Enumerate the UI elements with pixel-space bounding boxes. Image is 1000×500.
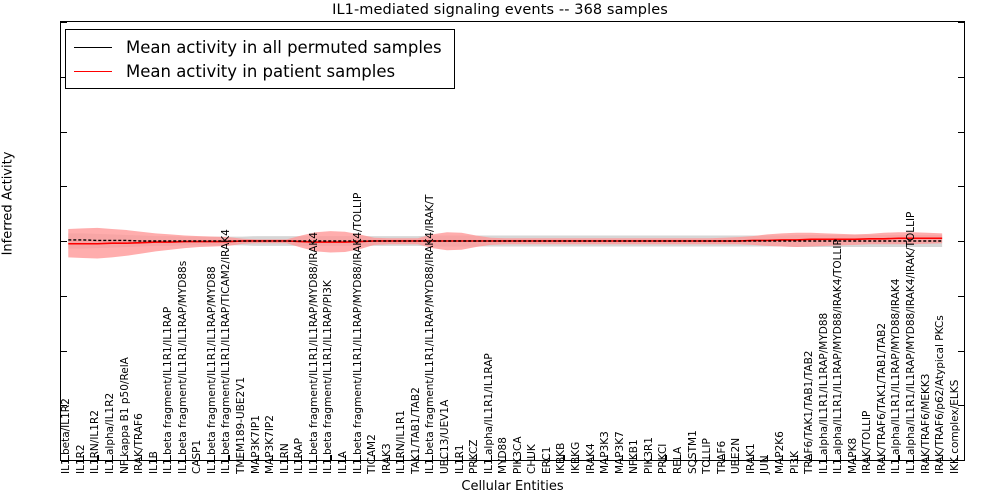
x-tick-label: JUN [760,455,770,474]
x-tick-label: MAP3K7 [615,431,625,474]
chart-title: IL1-mediated signaling events -- 368 sam… [0,2,1000,18]
x-tick-label: MAP3K7IP2 [265,415,275,474]
x-tick-label: TICAM2 [367,434,377,474]
x-tick-label: IL1 beta fragment/IL1R1/IL1RAP/MYD88/IRA… [353,193,363,474]
x-tick-label: NFKB1 [629,439,639,474]
y-axis-label: Inferred Activity [1,0,16,424]
x-tick-label: PRKCZ [469,440,479,474]
chart-root: IL1-mediated signaling events -- 368 sam… [0,0,1000,500]
legend: Mean activity in all permuted samples Me… [65,29,455,89]
x-tick-label: IKK complex/ELKS [950,380,960,474]
y-tick-mark [958,351,964,352]
x-tick-label: MAP2K6 [775,431,785,474]
legend-label-patient: Mean activity in patient samples [126,62,395,81]
y-tick-mark [61,22,67,23]
y-tick-mark [958,132,964,133]
x-tick-label: IL1R1 [455,444,465,474]
x-tick-label: MAP3K7IP1 [251,415,261,474]
x-tick-label: RELA [673,447,683,474]
x-tick-label: IL1RN [280,443,290,474]
x-tick-label: IL1 alpha/IL1R1/IL1RAP/MYD88/IRAK4/TOLLI… [833,239,843,474]
x-tick-label: IRAK1 [746,443,756,474]
x-tick-label: TOLLIP [702,438,712,474]
x-tick-label: IL1 beta fragment/IL1R1/IL1RAP/TICAM2/IR… [221,229,231,474]
x-tick-label: NF kappa B1 p50/RelA [120,357,130,474]
x-tick-label: MAPK8 [848,438,858,474]
patient-confidence-band [68,228,942,259]
x-tick-label: IRAK/TRAF6/MEKK3 [921,374,931,474]
x-tick-label: IL1RAP [294,438,304,474]
x-tick-label: IL1A [338,451,348,474]
x-tick-label: IL1 alpha/IL1R1/IL1RAP/MYD88/IRAK4 [891,279,901,474]
x-tick-label: UBE2N [731,438,741,474]
x-tick-label: IL1 beta/IL1R2 [61,398,71,474]
legend-label-permuted: Mean activity in all permuted samples [126,38,442,57]
x-tick-label: IKBKG [571,442,581,474]
legend-swatch-patient [74,71,112,72]
x-tick-label: IL1 beta fragment/IL1R1/IL1RAP/MYD88s [178,261,188,474]
legend-item-permuted: Mean activity in all permuted samples [74,35,442,59]
y-tick-mark [61,296,67,297]
x-tick-label: IL1 alpha/IL1R1/IL1RAP/MYD88/IRAK4/IRAK/… [906,212,916,474]
x-tick-label: TAK1/TAB1/TAB2 [411,387,421,474]
x-tick-label: IL1RN/IL1R1 [396,410,406,474]
x-tick-label: TRAF6 [717,441,727,474]
x-tick-label: IKBKB [556,443,566,474]
x-tick-label: PIK3R1 [644,437,654,474]
x-tick-label: IL1 alpha/IL1R1/IL1RAP/MYD88 [819,313,829,474]
y-tick-mark [958,22,964,23]
x-tick-label: IRAK/TRAF6/p62/Atypical PKCs [935,315,945,474]
y-tick-mark [61,351,67,352]
x-tick-label: IL1 beta fragment/IL1R1/IL1RAP [163,307,173,474]
x-tick-label: TMEM189-UBE2V1 [236,377,246,474]
y-tick-mark [958,296,964,297]
legend-item-patient: Mean activity in patient samples [74,59,442,83]
x-tick-label: IRAK/TRAF6/TAK1/TAB1/TAB2 [877,323,887,474]
x-tick-label: IRAK3 [382,443,392,474]
x-tick-label: IL1 beta fragment/IL1R1/IL1RAP/PI3K [323,280,333,474]
x-tick-label: CHUK [527,444,537,474]
y-tick-mark [61,186,67,187]
x-tick-label: IL1 beta fragment/IL1R1/IL1RAP/MYD88/IRA… [309,232,319,474]
x-tick-label: IL1 beta fragment/IL1R1/IL1RAP/MYD88 [207,266,217,474]
x-tick-label: CASP1 [192,440,202,474]
x-tick-label: MAP3K3 [600,431,610,474]
y-tick-mark [958,186,964,187]
x-tick-label: IL1 alpha/IL1R1/IL1RAP [484,353,494,474]
x-tick-label: IRAK/TRAF6 [134,413,144,474]
x-tick-label: MYD88 [498,437,508,474]
y-tick-mark [958,77,964,78]
y-tick-mark [61,132,67,133]
x-tick-label: IL1RN/IL1R2 [90,410,100,474]
x-axis-label: Cellular Entities [60,479,965,494]
x-tick-label: IL1B [149,451,159,474]
x-tick-label: SQSTM1 [688,430,698,474]
x-tick-label: PRKCI [658,444,668,474]
y-tick-mark [61,241,67,242]
x-tick-label: PI3K [790,451,800,474]
x-tick-label: UBC13/UEV1A [440,400,450,474]
x-tick-label: IRAK/TOLLIP [862,411,872,474]
y-tick-mark [958,241,964,242]
x-tick-label: IL1 alpha/IL1R2 [105,393,115,474]
x-tick-label: IRAK4 [586,443,596,474]
x-tick-label: IL1R2 [76,444,86,474]
x-tick-label: PIK3CA [513,436,523,474]
x-tick-label: ERC1 [542,447,552,474]
x-tick-label: TRAF6/TAK1/TAB1/TAB2 [804,351,814,474]
legend-swatch-permuted [74,47,112,48]
x-tick-label: IL1 beta fragment/IL1R1/IL1RAP/MYD88/IRA… [425,195,435,474]
